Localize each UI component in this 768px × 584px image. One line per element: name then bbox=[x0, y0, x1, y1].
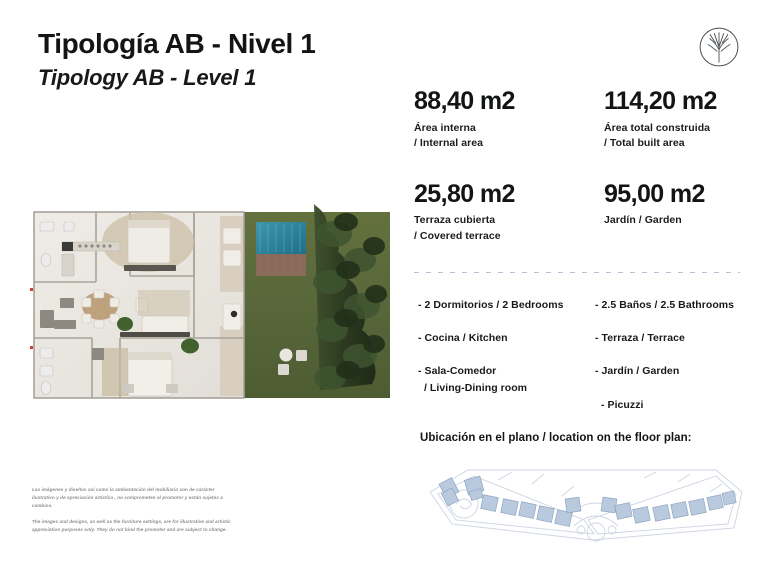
stat-value: 95,00 m2 bbox=[604, 181, 740, 209]
stat-label: Área total construida / Total built area bbox=[604, 121, 740, 151]
title-english: Tipology AB - Level 1 bbox=[38, 65, 438, 91]
feature-bedrooms: - 2 Dormitorios / 2 Bedrooms bbox=[418, 298, 595, 312]
feature-bathrooms: - 2.5 Baños / 2.5 Bathrooms bbox=[595, 298, 744, 312]
stat-total-built-area: 114,20 m2 Área total construida / Total … bbox=[604, 88, 740, 151]
disclaimer-english: The images and designs, as well as the f… bbox=[32, 518, 237, 534]
feature-picuzzi: - Picuzzi bbox=[595, 398, 744, 412]
features-column-left: - 2 Dormitorios / 2 Bedrooms - Cocina / … bbox=[418, 298, 595, 431]
stat-label: Jardín / Garden bbox=[604, 213, 740, 228]
title-spanish: Tipología AB - Nivel 1 bbox=[38, 28, 438, 60]
stat-internal-area: 88,40 m2 Área interna / Internal area bbox=[414, 88, 604, 151]
stat-label: Terraza cubierta / Covered terrace bbox=[414, 213, 604, 243]
stat-label-en: / Covered terrace bbox=[414, 229, 604, 244]
pool bbox=[256, 222, 306, 254]
tree-circle-logo-icon bbox=[698, 26, 740, 68]
floorplan-render bbox=[24, 198, 390, 406]
site-plan-diagram bbox=[416, 462, 756, 548]
feature-terrace: - Terraza / Terrace bbox=[595, 331, 744, 345]
dashed-divider bbox=[414, 272, 740, 273]
feature-living-dining-en: / Living-Dining room bbox=[418, 381, 595, 395]
stat-label-en: / Total built area bbox=[604, 136, 740, 151]
page-title: Tipología AB - Nivel 1 Tipology AB - Lev… bbox=[38, 28, 438, 92]
stat-covered-terrace: 25,80 m2 Terraza cubierta / Covered terr… bbox=[414, 181, 604, 244]
stats-grid: 88,40 m2 Área interna / Internal area 11… bbox=[414, 88, 740, 244]
disclaimer-spanish: Las imágenes y diseños así como la ambie… bbox=[32, 486, 237, 510]
stat-label-es: Terraza cubierta bbox=[414, 213, 604, 228]
stat-value: 114,20 m2 bbox=[604, 88, 740, 116]
stat-value: 25,80 m2 bbox=[414, 181, 604, 209]
disclaimer: Las imágenes y diseños así como la ambie… bbox=[32, 486, 237, 542]
stat-label-es: Área interna bbox=[414, 121, 604, 136]
stat-label-es: Área total construida bbox=[604, 121, 740, 136]
stat-label-en: / Internal area bbox=[414, 136, 604, 151]
features-list: - 2 Dormitorios / 2 Bedrooms - Cocina / … bbox=[418, 298, 744, 431]
brochure-page: Tipología AB - Nivel 1 Tipology AB - Lev… bbox=[0, 0, 768, 584]
feature-garden: - Jardín / Garden bbox=[595, 364, 744, 378]
feature-kitchen: - Cocina / Kitchen bbox=[418, 331, 595, 345]
stat-garden: 95,00 m2 Jardín / Garden bbox=[604, 181, 740, 244]
stat-label-es: Jardín / Garden bbox=[604, 213, 740, 228]
stat-value: 88,40 m2 bbox=[414, 88, 604, 116]
site-plan-units bbox=[439, 476, 736, 526]
stat-label: Área interna / Internal area bbox=[414, 121, 604, 151]
features-column-right: - 2.5 Baños / 2.5 Bathrooms - Terraza / … bbox=[595, 298, 744, 431]
feature-living-dining: - Sala-Comedor bbox=[418, 364, 595, 378]
location-heading: Ubicación en el plano / location on the … bbox=[420, 432, 692, 444]
